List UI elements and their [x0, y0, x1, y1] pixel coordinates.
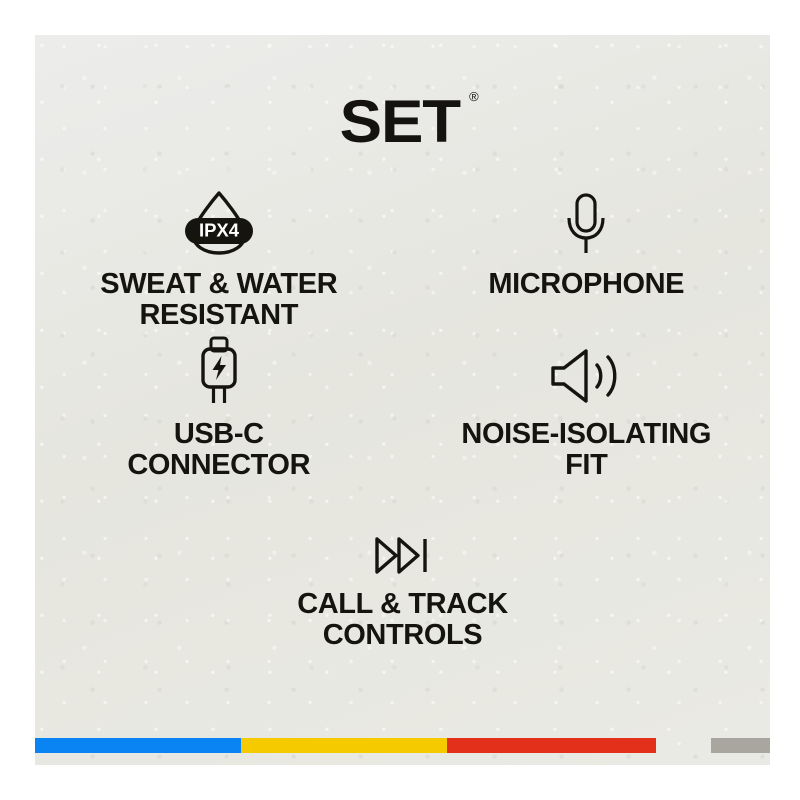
feature-label: MICROPHONE	[488, 269, 684, 300]
feature-label: USB-C CONNECTOR	[127, 419, 310, 482]
skip-track-controls-icon	[372, 505, 434, 577]
feature-row-3: CALL & TRACK CONTROLS	[35, 505, 770, 655]
usb-c-connector-icon	[193, 335, 245, 407]
color-segment-red	[447, 738, 656, 753]
color-segment-gray	[711, 738, 770, 753]
feature-item-microphone: MICROPHONE	[403, 185, 771, 335]
brand-logo-area: SET ®	[0, 92, 800, 152]
ipx4-badge-text: IPX4	[199, 220, 240, 241]
feature-label: SWEAT & WATER RESISTANT	[100, 269, 337, 332]
microphone-icon	[557, 185, 615, 257]
feature-item-call-track-controls: CALL & TRACK CONTROLS	[182, 505, 623, 655]
feature-item-noise-isolating-fit: NOISE-ISOLATING FIT	[403, 335, 771, 505]
color-segment-yellow	[241, 738, 447, 753]
feature-item-sweat-water-resistant: IPX4 SWEAT & WATER RESISTANT	[35, 185, 403, 335]
brand-color-bar	[35, 738, 770, 753]
brand-logo-text: SET	[340, 88, 461, 155]
feature-grid: IPX4 SWEAT & WATER RESISTANT MICROPHONE	[35, 185, 770, 655]
feature-label: CALL & TRACK CONTROLS	[297, 589, 508, 652]
brand-logo: SET ®	[340, 92, 461, 152]
ipx4-water-drop-icon: IPX4	[173, 185, 265, 257]
feature-row-2: USB-C CONNECTOR NOISE-ISOLATING FIT	[35, 335, 770, 505]
feature-row-1: IPX4 SWEAT & WATER RESISTANT MICROPHONE	[35, 185, 770, 335]
speaker-sound-waves-icon	[548, 335, 624, 407]
registered-trademark-icon: ®	[469, 90, 478, 103]
color-segment-gap	[656, 738, 711, 753]
product-feature-card: SET ® IPX4 SWEAT & WATER RESISTANT	[0, 0, 800, 800]
feature-item-usb-c-connector: USB-C CONNECTOR	[35, 335, 403, 505]
feature-label: NOISE-ISOLATING FIT	[461, 419, 711, 482]
color-segment-blue	[35, 738, 241, 753]
